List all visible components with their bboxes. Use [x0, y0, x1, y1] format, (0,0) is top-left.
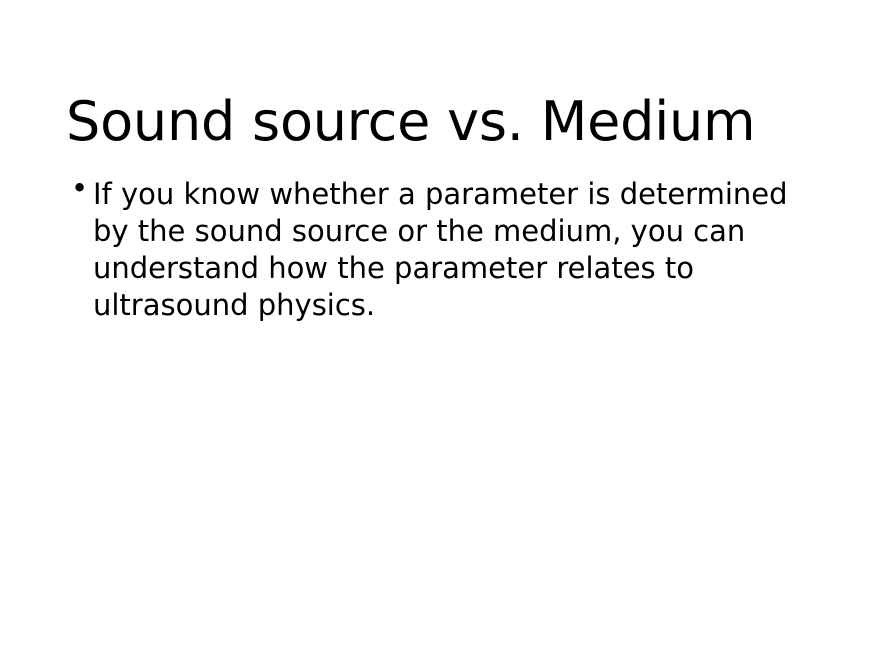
slide-body: • If you know whether a parameter is det… [66, 176, 816, 324]
slide-canvas: Sound source vs. Medium • If you know wh… [0, 0, 880, 660]
list-item-label: If you know whether a parameter is deter… [93, 176, 816, 324]
bullet-dot-icon: • [71, 176, 85, 200]
list-item: • If you know whether a parameter is det… [66, 176, 816, 324]
page-title: Sound source vs. Medium [66, 92, 826, 152]
